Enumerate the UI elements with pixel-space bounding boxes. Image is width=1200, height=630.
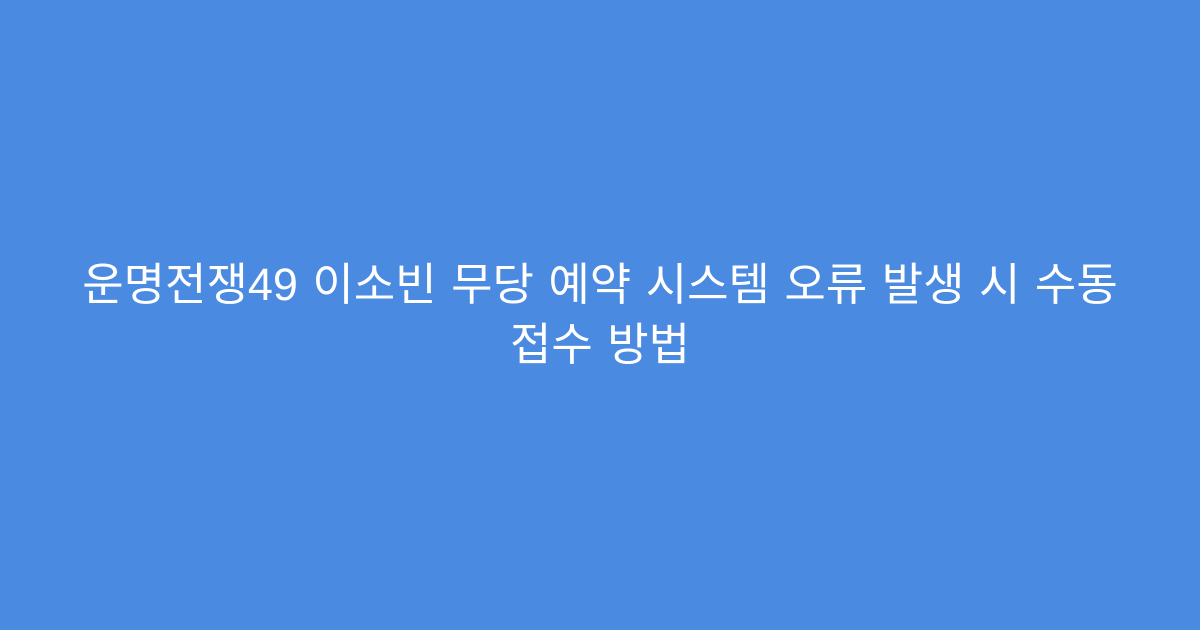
share-card-canvas: 운명전쟁49 이소빈 무당 예약 시스템 오류 발생 시 수동 접수 방법 bbox=[0, 0, 1200, 630]
page-title: 운명전쟁49 이소빈 무당 예약 시스템 오류 발생 시 수동 접수 방법 bbox=[64, 255, 1136, 375]
share-card-content: 운명전쟁49 이소빈 무당 예약 시스템 오류 발생 시 수동 접수 방법 bbox=[64, 255, 1136, 375]
